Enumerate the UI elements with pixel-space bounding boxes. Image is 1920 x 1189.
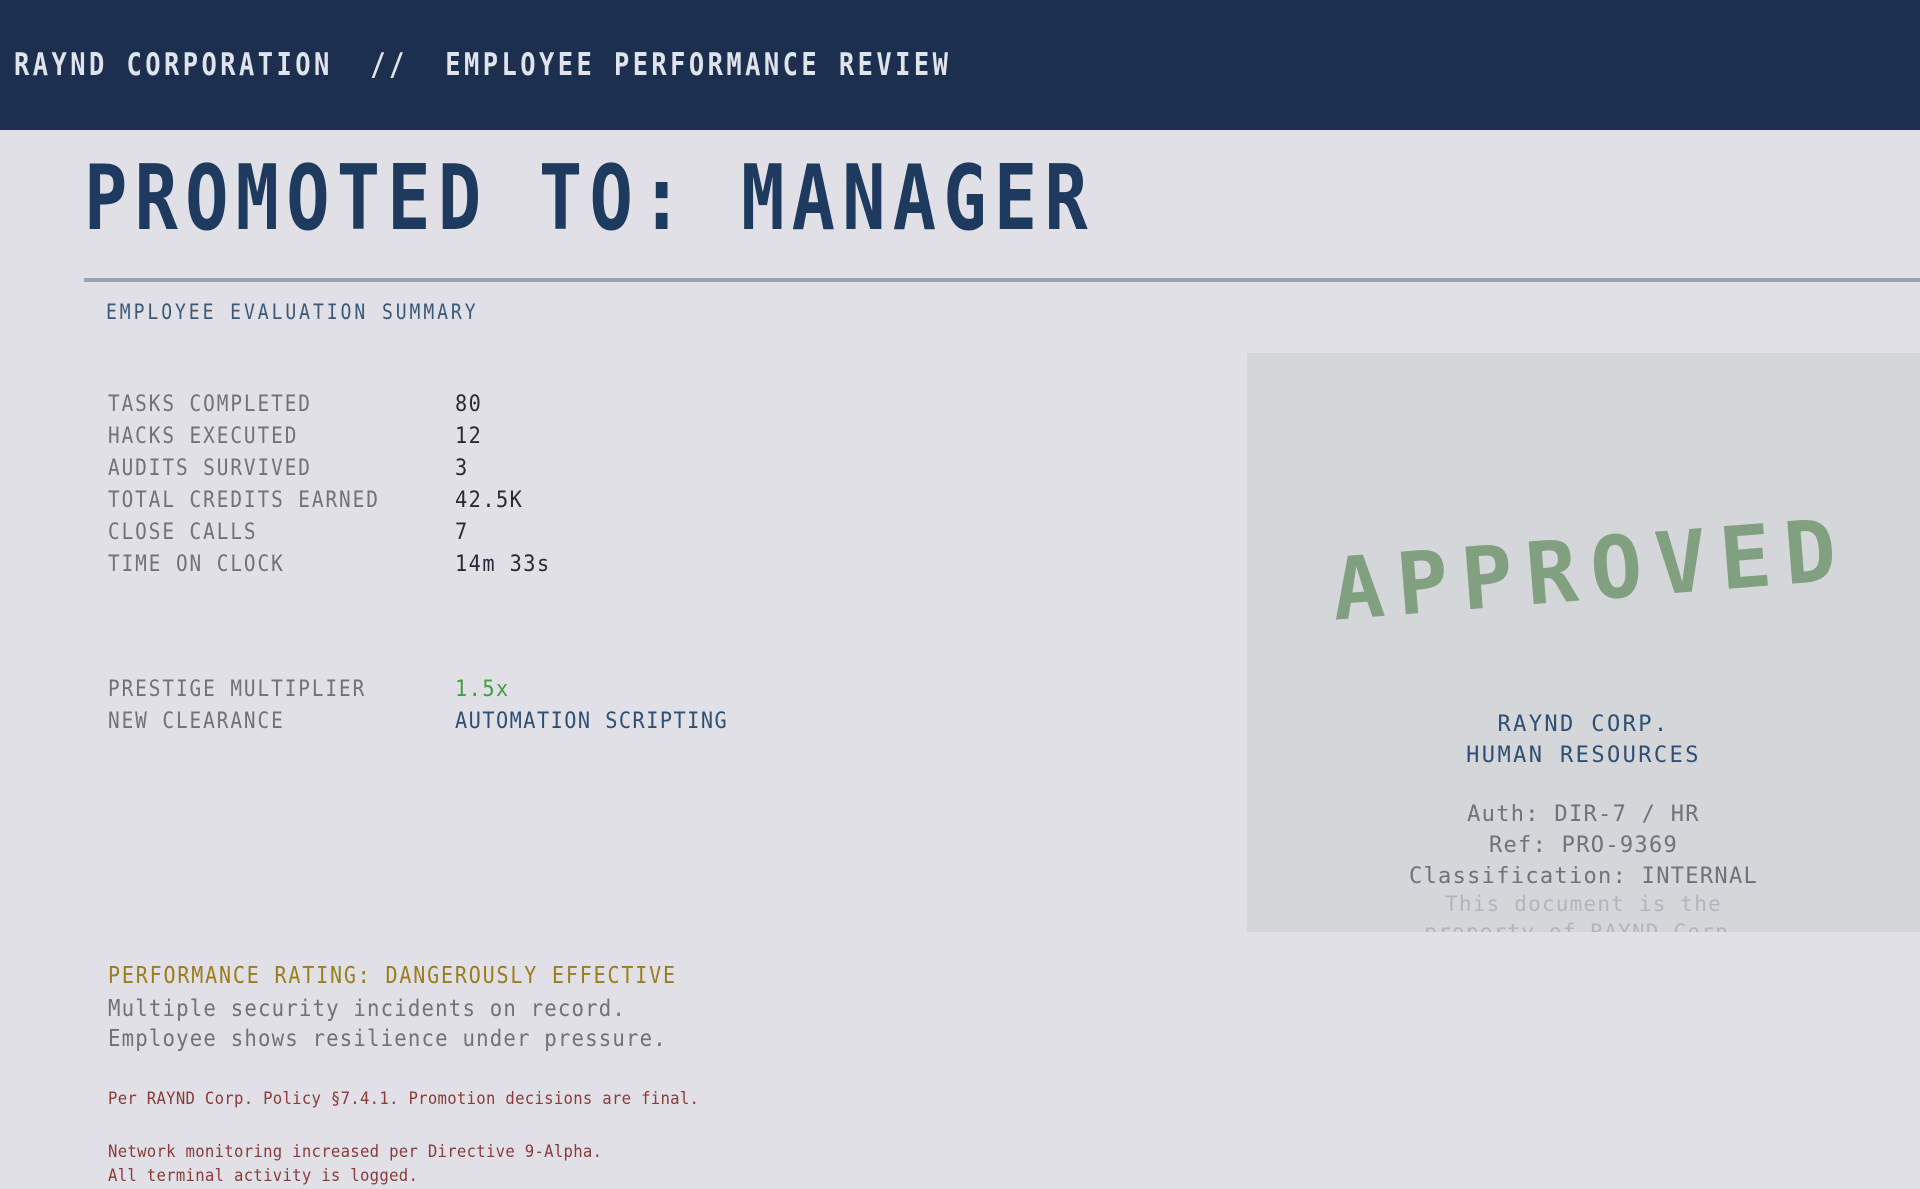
stamp-footer-line-2: property of RAYND Corp. <box>1424 920 1742 932</box>
stat-label: TIME ON CLOCK <box>108 552 413 577</box>
stat-label: CLOSE CALLS <box>108 520 413 545</box>
fineprint-monitoring-line-2: All terminal activity is logged. <box>108 1164 699 1189</box>
stamp-organization: RAYND CORP. HUMAN RESOURCES <box>1247 709 1920 771</box>
stat-value: 42.5K <box>455 488 523 513</box>
rating-note-line-2: Employee shows resilience under pressure… <box>108 1024 696 1054</box>
stat-row: TOTAL CREDITS EARNED 42.5K <box>108 488 559 520</box>
bonus-row-prestige: PRESTIGE MULTIPLIER 1.5x <box>108 677 752 709</box>
stat-row: TASKS COMPLETED 80 <box>108 392 559 424</box>
stamp-metadata: Auth: DIR-7 / HR Ref: PRO-9369 Classific… <box>1247 799 1920 893</box>
stamp-footer-line-1: This document is the <box>1445 892 1722 916</box>
title-divider <box>84 278 1920 282</box>
stat-value: 3 <box>455 456 469 481</box>
stat-label: HACKS EXECUTED <box>108 424 413 449</box>
fineprint-policy: Per RAYND Corp. Policy §7.4.1. Promotion… <box>108 1087 699 1112</box>
performance-rating-block: PERFORMANCE RATING: DANGEROUSLY EFFECTIV… <box>108 963 762 1055</box>
stat-value: 12 <box>455 424 482 449</box>
stat-row: HACKS EXECUTED 12 <box>108 424 559 456</box>
page-title: PROMOTED TO: MANAGER <box>84 152 1095 247</box>
stamp-org-line-1: RAYND CORP. <box>1497 712 1669 737</box>
fineprint-monitoring-line-1: Network monitoring increased per Directi… <box>108 1140 699 1165</box>
stat-value: 14m 33s <box>455 552 551 577</box>
stats-list: TASKS COMPLETED 80 HACKS EXECUTED 12 AUD… <box>108 392 559 584</box>
stat-label: TOTAL CREDITS EARNED <box>108 488 413 513</box>
stamp-org-line-2: HUMAN RESOURCES <box>1466 743 1701 768</box>
review-document: PROMOTED TO: MANAGER EMPLOYEE EVALUATION… <box>0 130 1920 1080</box>
fineprint-block: Per RAYND Corp. Policy §7.4.1. Promotion… <box>108 1087 751 1189</box>
bonus-list: PRESTIGE MULTIPLIER 1.5x NEW CLEARANCE A… <box>108 677 752 741</box>
stat-row: TIME ON CLOCK 14m 33s <box>108 552 559 584</box>
bonus-label: PRESTIGE MULTIPLIER <box>108 677 413 702</box>
stat-label: TASKS COMPLETED <box>108 392 413 417</box>
stamp-footer: This document is the property of RAYND C… <box>1247 890 1920 932</box>
bonus-value: AUTOMATION SCRIPTING <box>455 709 728 734</box>
rating-note-line-1: Multiple security incidents on record. <box>108 994 696 1024</box>
stamp-classification: Classification: INTERNAL <box>1409 864 1758 889</box>
approved-stamp-text: APPROVED <box>1315 500 1852 641</box>
stat-value: 80 <box>455 392 482 417</box>
rating-headline: PERFORMANCE RATING: DANGEROUSLY EFFECTIV… <box>108 963 677 989</box>
stat-value: 7 <box>455 520 469 545</box>
stat-row: CLOSE CALLS 7 <box>108 520 559 552</box>
app-header-bar: RAYND CORPORATION // EMPLOYEE PERFORMANC… <box>0 0 1920 130</box>
header-title: RAYND CORPORATION // EMPLOYEE PERFORMANC… <box>14 47 951 83</box>
section-label: EMPLOYEE EVALUATION SUMMARY <box>106 300 479 324</box>
bonus-value: 1.5x <box>455 677 510 702</box>
bonus-row-clearance: NEW CLEARANCE AUTOMATION SCRIPTING <box>108 709 752 741</box>
stamp-auth: Auth: DIR-7 / HR <box>1467 802 1700 827</box>
stat-row: AUDITS SURVIVED 3 <box>108 456 559 488</box>
bonus-label: NEW CLEARANCE <box>108 709 413 734</box>
approval-stamp-card: APPROVED RAYND CORP. HUMAN RESOURCES Aut… <box>1247 353 1920 932</box>
stat-label: AUDITS SURVIVED <box>108 456 413 481</box>
stamp-ref: Ref: PRO-9369 <box>1489 833 1678 858</box>
